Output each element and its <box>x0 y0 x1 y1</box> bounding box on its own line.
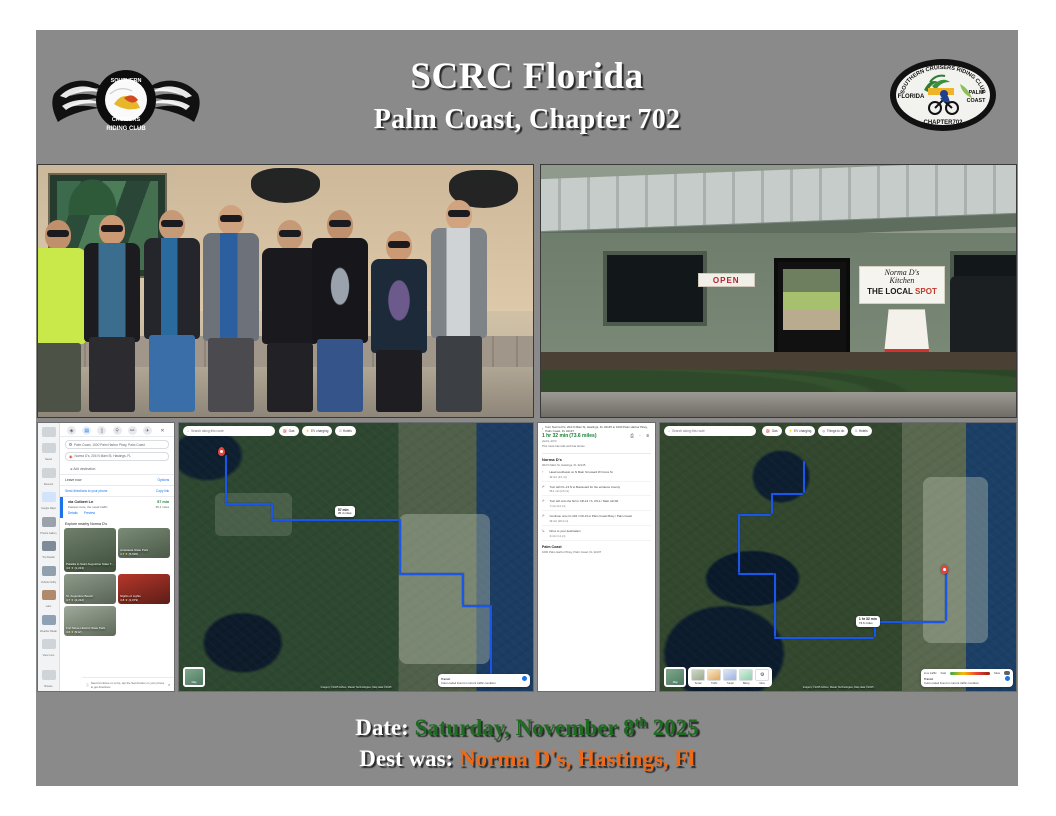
sidebar-item-label: Browse <box>44 686 52 689</box>
weather-icon[interactable] <box>42 615 56 625</box>
nearby-place-card[interactable]: Fort Mose Historic State Park 4.6 ★ (912… <box>64 606 116 636</box>
walk-icon[interactable]: ⚲ <box>113 426 122 435</box>
back-arrow-icon[interactable]: ‹ <box>542 426 543 433</box>
search-placeholder: Search along this route <box>672 429 705 433</box>
card-rating: 4.7 <box>66 598 70 602</box>
options-link[interactable]: Options <box>157 478 169 482</box>
star-icon: ★ <box>125 598 128 602</box>
legend-fast-label: Fast <box>941 671 946 675</box>
close-icon[interactable]: ✕ <box>168 683 170 687</box>
copy-link-button[interactable]: Copy link <box>156 489 169 493</box>
browser-sidebar[interactable]: Saved Recents Google Maps Photos Gallery… <box>38 423 60 691</box>
transit-legend-panel: Live traffic Fast Slow Transit Color-cod… <box>921 669 1013 687</box>
svg-text:COAST: COAST <box>967 98 987 104</box>
card-reviews: (4,212) <box>75 598 85 602</box>
legend-live-traffic-label: Live traffic <box>924 671 937 675</box>
direction-step[interactable]: ↱ Continue onto Cr-204 / CR-13 to Palm C… <box>542 511 651 526</box>
send-to-phone-link[interactable]: Send directions to your phone <box>65 489 107 493</box>
chip-ev-charging[interactable]: ⚡ EV charging <box>302 426 333 436</box>
chip-ev-charging[interactable]: ⚡ EV charging <box>785 426 816 436</box>
route-label-dist: 73.6 miles <box>859 621 873 625</box>
chip-hotels[interactable]: ⌸ Hotels <box>851 426 871 436</box>
page-subtitle: Palm Coast, Chapter 702 <box>36 104 1018 136</box>
map-attribution: Imagery ©2025 Airbus, Maxar Technologies… <box>803 686 874 689</box>
legend-title: Transit <box>924 677 933 681</box>
destination-pin-icon: ◉ <box>69 454 73 459</box>
toggle-dot-icon[interactable] <box>1005 676 1010 681</box>
chip-label: EV charging <box>311 429 328 433</box>
add-destination-button[interactable]: ⊕ Add destination <box>60 466 174 474</box>
card-reviews: (5,930) <box>129 552 139 556</box>
legend-subtitle: Color-coded lines for current traffic co… <box>924 681 1010 685</box>
presentation-slide: SOUTHERN CRUISERS RIDING CLUB SCRC Flori… <box>36 30 1018 786</box>
layer-label: Transit <box>727 682 734 685</box>
destination-value: Norma D's, 204 N Main St, Hastings, FL <box>75 454 132 458</box>
route-breadcrumb: from Norma D's, 204 N Main St, Hastings,… <box>545 426 651 433</box>
nearby-place-card[interactable]: Nights of Lights 4.8 ★ (1,079) <box>118 574 170 604</box>
legend-slow-label: Slow <box>994 671 1000 675</box>
trips-icon[interactable] <box>42 541 56 551</box>
sign-the-local: THE LOCAL <box>867 287 913 296</box>
chip-gas[interactable]: ⛽ Gas <box>279 426 298 436</box>
search-placeholder: Search along this route <box>191 429 224 433</box>
destination-arrow-icon: ↳ <box>542 529 547 538</box>
directions-content: ◈ ▤ ▯ ⚲ ⚯ ✈ ✕ Palm Coast, 1000 Palm Harb… <box>60 423 174 691</box>
step-text: Turn left onto the N2 to CR-13 / S. US-1… <box>549 499 618 503</box>
star-icon: ★ <box>71 630 74 634</box>
saved-icon[interactable] <box>42 443 56 453</box>
details-button[interactable]: Details <box>68 511 78 515</box>
phone-hint-bar[interactable]: ⓘ Need Continue on a trip, tap the Send … <box>82 677 174 691</box>
layer-label: Map <box>185 681 203 684</box>
total-distance: (73.6 miles) <box>569 433 596 439</box>
biking-icon <box>739 669 753 681</box>
maps-icon[interactable] <box>42 492 56 502</box>
date-line: Date: Saturday, November 8th 2025 <box>355 712 699 743</box>
turn-right-arrow-icon: ↱ <box>542 485 547 494</box>
card-rating: 4.6 <box>66 630 70 634</box>
star-icon: ★ <box>125 552 128 556</box>
norma-ds-kitchen-sign: Norma D's Kitchen THE LOCAL SPOT <box>859 266 945 304</box>
route-endpoints[interactable]: Palm Coast, 1000 Palm Harbor Pkwy, Palm … <box>60 437 174 466</box>
card-reviews: (1,213) <box>75 566 85 570</box>
direction-step[interactable]: ↱ Turn left onto the N2 to CR-13 / S. US… <box>542 496 651 511</box>
straight-arrow-icon: ↑ <box>542 470 547 479</box>
nearby-place-card[interactable]: Palatka to Saint Augustine State T... 4.… <box>64 528 116 572</box>
sign-line-2: Kitchen <box>862 277 942 285</box>
date-value: Saturday, November 8 <box>415 715 635 740</box>
chip-label: Gas <box>772 429 778 433</box>
google-maps-directions-panel[interactable]: Saved Recents Google Maps Photos Gallery… <box>37 422 175 692</box>
destination-line: Dest was: Norma D's, Hastings, Fl <box>359 743 694 774</box>
origin-place-name: Norma D's <box>542 457 651 462</box>
sidebar-item-label: Trip Details <box>42 557 55 560</box>
preview-button[interactable]: Preview <box>84 511 95 515</box>
date-label: Date: <box>355 715 409 740</box>
direction-step[interactable]: ↳ Drive to your destination 3 min (1.4 m… <box>542 526 651 541</box>
gas-icon: ⛽ <box>766 429 770 433</box>
more-icon: ⚙ <box>755 669 769 681</box>
route-result-card[interactable]: via Colbert Ln 57 min Fastest route, the… <box>60 497 174 518</box>
sidebar-item-label: Google Maps <box>41 508 56 511</box>
route-traffic-note: Fastest route, the usual traffic <box>68 505 107 509</box>
nearby-place-card[interactable]: Anastasia State Park 4.7 ★ (5,930) <box>118 528 170 558</box>
card-reviews: (912) <box>75 630 82 634</box>
hotel-icon: ⌸ <box>855 429 857 433</box>
direction-step[interactable]: ↱ Turn left/ FL-13 N to Boulevard for th… <box>542 482 651 497</box>
map-screenshot-row: Saved Recents Google Maps Photos Gallery… <box>37 422 1017 694</box>
destination-name: Palm Coast <box>542 545 651 549</box>
step-distance: 3 min (1.4 mi) <box>549 535 580 538</box>
chip-things-to-do[interactable]: ◎ Things to do <box>818 426 848 436</box>
destination-pin[interactable] <box>218 447 225 456</box>
terrain-icon <box>691 669 705 681</box>
search-icon: ⌕ <box>668 429 670 433</box>
transit-legend-panel: Transit Color-coded lines for current tr… <box>438 674 530 687</box>
sidebar-item-label: Recents <box>44 484 53 487</box>
storefront-photo: OPEN Norma D's Kitchen THE LOCAL SPOT <box>540 164 1017 418</box>
transit-icon[interactable]: ◈ <box>67 426 76 435</box>
turn-right-arrow-icon: ↱ <box>542 514 547 523</box>
svg-text:CHAPTER702: CHAPTER702 <box>923 120 963 126</box>
hotel-icon: ⌸ <box>339 429 341 433</box>
step-distance: 7 min (3.2 mi) <box>549 505 618 508</box>
card-title: Palatka to Saint Augustine State T... <box>66 562 114 566</box>
route-action-icons[interactable]: ⎙ ⌁ ⊜ <box>630 433 651 438</box>
photo-row: OPEN Norma D's Kitchen THE LOCAL SPOT <box>37 164 1017 418</box>
route-distance: 35.4 miles <box>155 505 169 509</box>
star-icon: ★ <box>71 598 74 602</box>
transit-icon <box>723 669 737 681</box>
parked-truck <box>950 276 1018 362</box>
layer-label: Traffic <box>711 682 718 685</box>
route-duration: 57 min <box>157 500 169 504</box>
search-along-route-input[interactable]: ⌕ Search along this route <box>664 426 756 436</box>
traffic-gradient-bar <box>950 672 990 675</box>
chip-label: Hotels <box>343 429 352 433</box>
page-title: SCRC Florida <box>36 58 1018 97</box>
origin-value: Palm Coast, 1000 Palm Harbor Pkwy, Palm … <box>74 443 145 447</box>
legend-toggle[interactable] <box>1004 671 1010 675</box>
slide-header: SOUTHERN CRUISERS RIDING CLUB SCRC Flori… <box>36 30 1018 164</box>
legend-subtitle: Color-coded lines for current traffic co… <box>441 681 527 685</box>
layer-label: More <box>759 682 764 685</box>
close-icon[interactable]: ✕ <box>158 426 167 435</box>
contribute-icon[interactable] <box>42 566 56 576</box>
palm-coast-chapter-patch: SOUTHERN CRUISERS RIDING CLUB FLORIDA PA… <box>888 56 998 134</box>
card-rating: 4.6 <box>66 566 70 570</box>
attraction-icon: ◎ <box>822 429 825 433</box>
route-duration-label[interactable]: 1 hr 32 min 73.6 miles <box>856 616 880 627</box>
card-reviews: (1,079) <box>129 598 139 602</box>
step-text: Turn left/ FL-13 N to Boulevard for the … <box>549 485 620 489</box>
route-note: This route has tolls and has ferries <box>542 445 651 449</box>
info-icon: ⓘ <box>86 683 89 687</box>
ev-icon: ⚡ <box>306 429 310 433</box>
layer-options-bar[interactable]: Terrain Traffic Transit Biking ⚙ More <box>688 667 772 687</box>
star-icon: ★ <box>71 566 74 570</box>
route-via-label: via Colbert Ln <box>68 500 93 504</box>
bike-icon[interactable]: ⚯ <box>128 426 137 435</box>
slide-footer: Date: Saturday, November 8th 2025 Dest w… <box>36 700 1018 786</box>
open-sign: OPEN <box>698 273 755 287</box>
chip-label: Gas <box>289 429 295 433</box>
map-layer-switcher[interactable]: Map <box>183 667 205 687</box>
date-year: 2025 <box>647 715 699 740</box>
dest-label: Dest was: <box>359 746 453 771</box>
route-label-dist: 35.4 miles <box>338 511 352 515</box>
map-filter-chips[interactable]: ⛽ Gas ⚡ EV charging ⌸ Hotels <box>279 426 356 436</box>
layer-label: Terrain <box>695 682 702 685</box>
layer-label: Map <box>666 681 684 684</box>
step-text: Drive to your destination <box>549 529 580 533</box>
sign-spot: SPOT <box>915 287 937 296</box>
date-ordinal-suffix: th <box>635 715 647 730</box>
card-rating: 4.8 <box>120 598 124 602</box>
step-distance: 39 min (26.4 mi) <box>549 520 631 523</box>
sidebar-item-label: View more <box>43 655 55 658</box>
gas-icon: ⛽ <box>283 429 287 433</box>
step-text: Head southwest on N Main St toward W Cro… <box>549 470 612 474</box>
step-text: Continue onto Cr-204 / CR-13 to Palm Coa… <box>549 514 631 518</box>
layer-label: Biking <box>743 682 750 685</box>
nearby-places-grid[interactable]: Palatka to Saint Augustine State T... 4.… <box>60 528 174 636</box>
satellite-layer-button[interactable]: Map <box>183 667 205 687</box>
travel-mode-tabs[interactable]: ◈ ▤ ▯ ⚲ ⚯ ✈ ✕ <box>60 423 174 437</box>
menu-icon[interactable] <box>42 427 56 437</box>
sidebar-item-label: Saved <box>45 459 52 462</box>
origin-input[interactable]: Palm Coast, 1000 Palm Harbor Pkwy, Palm … <box>65 440 169 449</box>
flight-icon[interactable]: ✈ <box>143 426 152 435</box>
map-layer-switcher[interactable]: Map Terrain Traffic Transit Biking <box>664 667 772 687</box>
chip-label: EV charging <box>794 429 811 433</box>
return-route-map[interactable]: ⌕ Search along this route ⛽ Gas ⚡ EV cha… <box>659 422 1017 692</box>
route-duration-label[interactable]: 57 min 35.4 miles <box>335 506 355 517</box>
outbound-route-map[interactable]: ⌕ Search along this route ⛽ Gas ⚡ EV cha… <box>178 422 534 692</box>
sidebar-item-label: Photos Gallery <box>40 533 56 536</box>
turn-by-turn-directions-panel[interactable]: ‹ from Norma D's, 204 N Main St, Hasting… <box>537 422 656 692</box>
map-attribution: Imagery ©2025 Airbus, Maxar Technologies… <box>321 686 392 689</box>
sidebar-item-label: Labs <box>46 606 51 609</box>
traffic-icon <box>707 669 721 681</box>
step-distance: 39 min (0.1 mi) <box>549 476 612 479</box>
biking-layer-button[interactable]: Biking <box>739 669 753 685</box>
departure-options-row[interactable]: Leave now Options <box>60 474 174 486</box>
dest-value: Norma D's, Hastings, Fl <box>459 746 695 771</box>
nearby-place-card[interactable]: St. Augustine Beach 4.7 ★ (4,212) <box>64 574 116 604</box>
add-destination-label: Add destination <box>73 467 95 471</box>
search-along-route-input[interactable]: ⌕ Search along this route <box>183 426 275 436</box>
browse-icon[interactable] <box>42 670 56 680</box>
transit-layer-button[interactable]: Transit <box>723 669 737 685</box>
ev-icon: ⚡ <box>789 429 793 433</box>
explore-nearby-heading: Explore nearby Norma D's <box>60 518 174 528</box>
destination-input[interactable]: ◉ Norma D's, 204 N Main St, Hastings, FL <box>65 452 169 461</box>
photos-icon[interactable] <box>42 517 56 527</box>
chip-label: Things to do <box>827 429 845 433</box>
map-filter-chips[interactable]: ⛽ Gas ⚡ EV charging ◎ Things to do ⌸ Hot… <box>762 426 872 436</box>
origin-dot-icon <box>69 443 72 446</box>
more-layer-button[interactable]: ⚙ More <box>755 669 769 685</box>
legend-title: Transit <box>441 677 450 681</box>
sidebar-item-label: Weather Radar <box>40 631 57 634</box>
chip-hotels[interactable]: ⌸ Hotels <box>335 426 355 436</box>
phone-hint-text: Need Continue on a trip, tap the Send be… <box>91 681 166 689</box>
sidebar-item-label: Vehicle Notify <box>41 582 56 585</box>
turn-right-arrow-icon: ↱ <box>542 499 547 508</box>
send-directions-row[interactable]: Send directions to your phone Copy link <box>60 486 174 497</box>
leave-now-select[interactable]: Leave now <box>65 478 81 482</box>
card-rating: 4.7 <box>120 552 124 556</box>
labs-icon[interactable] <box>42 590 56 600</box>
group-photo <box>37 164 534 418</box>
chip-gas[interactable]: ⛽ Gas <box>762 426 781 436</box>
more-icon[interactable] <box>42 639 56 649</box>
direction-step[interactable]: ↑ Head southwest on N Main St toward W C… <box>542 467 651 482</box>
search-icon: ⌕ <box>187 429 189 433</box>
toggle-dot-icon[interactable] <box>522 676 527 681</box>
terrain-layer-button[interactable]: Terrain <box>691 669 705 685</box>
car-icon[interactable]: ▤ <box>82 426 91 435</box>
svg-text:PALM: PALM <box>969 90 984 96</box>
chip-label: Hotels <box>859 429 868 433</box>
transit-rail-icon[interactable]: ▯ <box>97 426 106 435</box>
header-title-block: SCRC Florida Palm Coast, Chapter 702 <box>36 58 1018 136</box>
destination-address: 1000 Palm Harbor Pkwy, Palm Coast, FL 32… <box>542 550 651 554</box>
satellite-layer-button[interactable]: Map <box>664 667 686 687</box>
step-distance: 56.1 min (4.5 mi) <box>549 490 620 493</box>
traffic-layer-button[interactable]: Traffic <box>707 669 721 685</box>
svg-text:FLORIDA: FLORIDA <box>898 94 925 100</box>
recents-icon[interactable] <box>42 468 56 478</box>
